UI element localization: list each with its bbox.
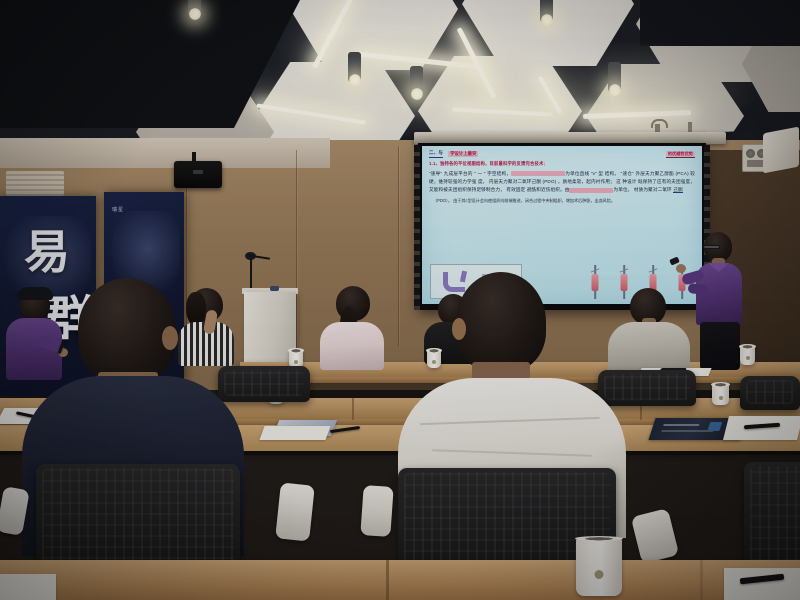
attendee-head [78, 278, 176, 382]
brochure-line [661, 430, 713, 432]
slide-body-text: "速导" 九成层平台的 " 一 " 字空结构，为单位直线 "v" 型 结构。 "… [429, 170, 695, 195]
suture-body [592, 274, 599, 291]
upper-wall-band [0, 138, 330, 168]
chair-mesh-back [746, 380, 794, 404]
table-seam-mid [352, 398, 354, 420]
suture-illustration [585, 265, 605, 299]
mesh-chair[interactable] [740, 376, 800, 410]
wall-panel-seam [186, 168, 188, 348]
ceiling [0, 0, 800, 152]
suture-illustration [614, 265, 634, 299]
handout-sheet[interactable] [0, 574, 56, 600]
slide-para-1: "速导" 九成层平台的 " 一 " 字空结构， [429, 171, 511, 176]
ceiling-speaker [174, 161, 222, 188]
cup-logo [595, 570, 604, 579]
slide-title-right: 的优越性优势 [666, 151, 695, 158]
wall-panel-seam [398, 146, 400, 346]
air-vent [6, 171, 64, 196]
handout-sheet[interactable] [724, 568, 800, 600]
slide-title-left: 二、与 [429, 150, 443, 158]
ceiling-spotlight [540, 0, 553, 22]
wall-panel-seam [296, 150, 298, 350]
attendee-hair [186, 292, 206, 326]
presentation-slide: 二、与 学设计上最突 的优越性优势 1.1、独特各的平位视图结构，目前最科学的反… [422, 146, 702, 304]
chair-armrest[interactable] [360, 485, 393, 537]
ceiling-spotlight [608, 62, 621, 92]
suture-body [621, 274, 628, 291]
paper-cup[interactable] [740, 346, 755, 365]
handout-sheet[interactable] [259, 426, 330, 440]
ceiling-spotlight [188, 0, 201, 16]
slide-redaction [511, 171, 565, 176]
presenter-glasses [703, 245, 720, 249]
slide-para-4: 度， 内层夫力聚对二氧环己酮 (PDO) ，质地柔软，起内衬作用； 这 [478, 179, 621, 184]
presenter-hand [676, 264, 686, 273]
training-table-foreground [0, 560, 800, 600]
wall-speaker [763, 127, 799, 174]
banner-caption: 瑞星 [112, 206, 124, 213]
slide-para-2: 为单位直线 "v" [565, 171, 597, 176]
attendee-head [456, 272, 546, 372]
ceiling-spotlight [410, 66, 423, 96]
attendee-ear [162, 326, 178, 350]
table-seam-foreground [700, 560, 703, 600]
slide-title-mid: 学设计上最突 [448, 151, 478, 157]
attendee-torso [320, 322, 384, 370]
paper-cup[interactable] [427, 350, 441, 368]
chair-mesh-back [42, 468, 234, 570]
hook-tip-icon [460, 271, 467, 283]
chair-mesh-back [750, 466, 800, 572]
cup-logo [746, 356, 750, 360]
slide-note: （PDO）。 由于其c型设计会向使组织向前端推进，闭合过程中夹制组织，增加术后肿… [429, 197, 695, 204]
attendee-torso [608, 322, 690, 374]
paper-cup[interactable] [576, 538, 622, 596]
slide-para-6: 有效固定 避酰和近伤组织。由 [506, 187, 569, 192]
chair-mesh-back [604, 374, 690, 400]
presenter-legs [700, 322, 740, 370]
cup-logo [432, 360, 436, 364]
projector-mount [688, 122, 692, 132]
slide-para-7: 为单位， 材质为聚对二氧环 [613, 187, 671, 192]
presenter-arm-left [688, 283, 709, 295]
chair-mesh-back [224, 370, 304, 396]
ceiling-beam [640, 0, 800, 46]
brochure-line [663, 424, 700, 426]
cup-logo [719, 396, 723, 400]
screen-tensioner-left [414, 145, 420, 310]
slide-para-8: 己酮 [673, 187, 683, 193]
brochure-graphic [707, 422, 722, 431]
paper-cup[interactable] [712, 384, 729, 405]
banner-char-primary: 易 [24, 216, 70, 282]
control-switch[interactable] [747, 160, 764, 167]
microphone-stand [250, 258, 252, 292]
cup-logo [294, 360, 298, 364]
control-knob[interactable] [746, 149, 755, 158]
mesh-chair[interactable] [598, 370, 696, 406]
lectern-item [270, 286, 279, 291]
chair-armrest[interactable] [631, 508, 679, 564]
mesh-chair[interactable] [218, 366, 310, 402]
staff-cap [17, 287, 53, 300]
ceiling-spotlight [348, 52, 361, 82]
slide-redaction [569, 188, 613, 193]
attendee-ear [452, 318, 466, 340]
slide-figure-suture-row [542, 262, 692, 302]
table-seam-foreground [386, 560, 389, 600]
slide-title-bar: 二、与 学设计上最突 的优越性优势 [429, 150, 695, 158]
slide-heading: 1.1、独特各的平位视图结构，目前最科学的反馈完合技术; [429, 161, 695, 167]
chair-armrest[interactable] [275, 482, 315, 541]
conference-room-scene: 二、与 学设计上最突 的优越性优势 1.1、独特各的平位视图结构，目前最科学的反… [0, 0, 800, 600]
